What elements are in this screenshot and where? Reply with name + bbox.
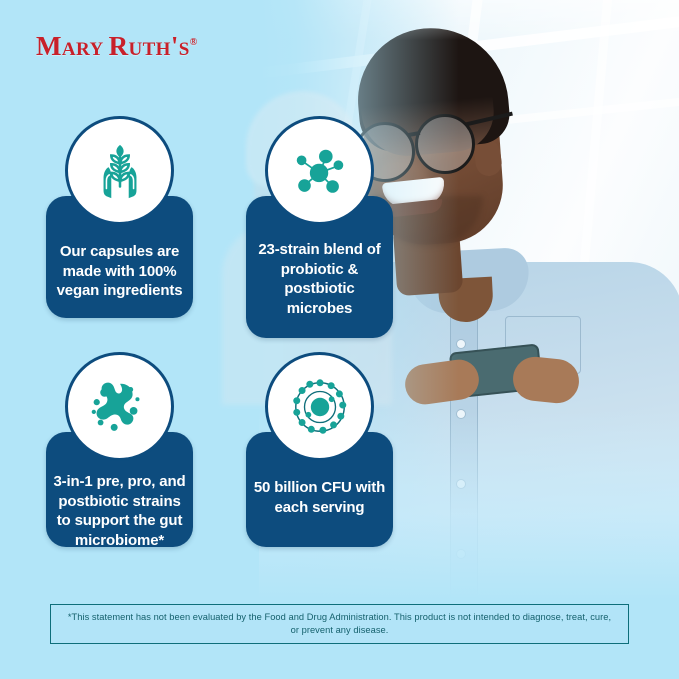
- cell-culture-icon: [289, 376, 351, 438]
- feature-card-text: 50 billion CFU with each serving: [246, 478, 393, 517]
- feature-card-text: Our capsules are made with 100% vegan in…: [46, 242, 193, 301]
- brand-name-second: Ruth's: [109, 31, 190, 61]
- feature-card-text: 3-in-1 pre, pro, and postbiotic strains …: [46, 472, 193, 550]
- infographic-canvas: MaryRuth's® Our capsules are made with 1…: [0, 0, 679, 679]
- brand-name-first: Mary: [36, 31, 104, 61]
- brand-logo: MaryRuth's®: [36, 31, 198, 62]
- feature-icon-badge-three-in-one: [65, 352, 174, 461]
- eyeglass-temple: [465, 112, 513, 126]
- hands-holding-plant-icon: [89, 140, 151, 202]
- feature-card-text: 23-strain blend of probiotic & postbioti…: [246, 240, 393, 318]
- bacteria-cluster-icon: [88, 377, 152, 437]
- registered-trademark-icon: ®: [190, 37, 198, 48]
- feature-icon-badge-strain-blend: [265, 116, 374, 225]
- feature-icon-badge-vegan-ingredients: [65, 116, 174, 225]
- molecule-network-icon: [289, 140, 351, 202]
- disclaimer-text: *This statement has not been evaluated b…: [51, 611, 628, 637]
- feature-icon-badge-cfu-count: [265, 352, 374, 461]
- disclaimer-box: *This statement has not been evaluated b…: [50, 604, 629, 644]
